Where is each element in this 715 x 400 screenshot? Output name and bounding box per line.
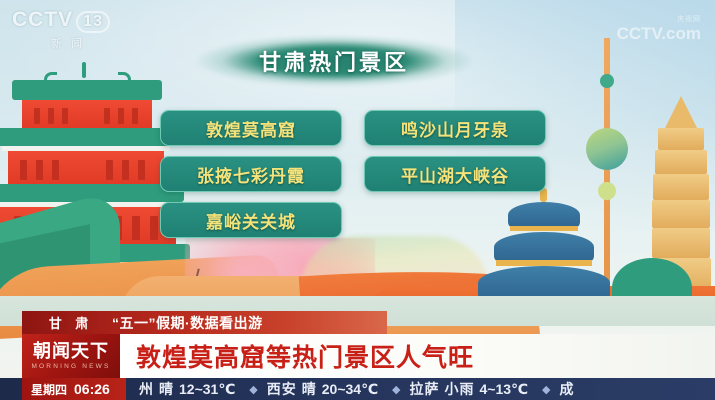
ticker-city: 成 bbox=[559, 379, 574, 399]
ticker-city: 西安 bbox=[267, 379, 297, 399]
scenic-spot-chip[interactable]: 张掖七彩丹霞 bbox=[160, 156, 342, 192]
channel-watermark: CCTV13 新闻 bbox=[12, 8, 130, 48]
channel-subtitle: 新闻 bbox=[12, 35, 130, 51]
broadcast-screen: 甘肃热门景区 敦煌莫高窟 鸣沙山月牙泉 张掖七彩丹霞 平山湖大峡谷 嘉峪关关城 … bbox=[0, 0, 715, 400]
headline-text: 敦煌莫高窟等热门景区人气旺 bbox=[120, 334, 715, 378]
region-label: 甘 肃 bbox=[36, 314, 106, 331]
weather-ticker: 星期四 06:26 州 晴 12~31℃ ◆ 西安 晴 20~34℃ ◆ 拉萨 … bbox=[0, 378, 715, 400]
ticker-condition: 晴 bbox=[159, 379, 174, 399]
scenic-spot-chip[interactable]: 鸣沙山月牙泉 bbox=[364, 110, 546, 146]
pearl-tower-main-sphere bbox=[586, 128, 628, 170]
ticker-condition: 晴 bbox=[302, 379, 317, 399]
pearl-tower-top-sphere bbox=[600, 74, 614, 88]
channel-watermark-row: CCTV13 bbox=[12, 8, 130, 33]
ticker-datetime: 星期四 06:26 bbox=[22, 378, 126, 400]
scenic-spot-list: 敦煌莫高窟 鸣沙山月牙泉 张掖七彩丹霞 平山湖大峡谷 嘉峪关关城 bbox=[160, 110, 560, 248]
site-watermark-cn: 央视网 bbox=[617, 14, 701, 24]
ticker-temperature: 20~34℃ bbox=[322, 381, 378, 398]
site-watermark: 央视网 CCTV.com bbox=[617, 14, 701, 44]
bullet-icon: ◆ bbox=[249, 383, 257, 396]
ticker-weekday: 星期四 bbox=[31, 381, 67, 398]
segment-subtitle: “五一”假期·数据看出游 bbox=[112, 313, 377, 332]
program-logo-cn: 朝闻天下 bbox=[33, 342, 109, 360]
ticker-temperature: 12~31℃ bbox=[179, 381, 235, 398]
channel-number: 13 bbox=[76, 11, 110, 33]
program-logo: 朝闻天下 MORNING NEWS bbox=[22, 334, 120, 378]
page-title: 甘肃热门景区 bbox=[196, 44, 472, 78]
ticker-city: 州 bbox=[139, 379, 154, 399]
lower-third: 甘 肃 “五一”假期·数据看出游 朝闻天下 MORNING NEWS 敦煌莫高窟… bbox=[0, 311, 715, 378]
ticker-condition: 小雨 bbox=[445, 379, 475, 399]
scenic-spot-chip[interactable]: 嘉峪关关城 bbox=[160, 202, 342, 238]
bullet-icon: ◆ bbox=[542, 383, 550, 396]
scenic-spot-row: 敦煌莫高窟 鸣沙山月牙泉 bbox=[160, 110, 560, 146]
ticker-time: 06:26 bbox=[74, 381, 110, 397]
site-watermark-en: CCTV.com bbox=[617, 24, 701, 44]
bullet-icon: ◆ bbox=[392, 383, 400, 396]
scenic-spot-row: 张掖七彩丹霞 平山湖大峡谷 bbox=[160, 156, 560, 192]
program-logo-en: MORNING NEWS bbox=[31, 363, 110, 370]
ticker-weather-item: ◆ 西安 晴 20~34℃ bbox=[249, 379, 378, 399]
ticker-weather-item: ◆ 成 bbox=[542, 379, 574, 399]
ticker-weather-item: ◆ 拉萨 小雨 4~13℃ bbox=[392, 379, 528, 399]
ticker-weather-list: 州 晴 12~31℃ ◆ 西安 晴 20~34℃ ◆ 拉萨 小雨 4~13℃ ◆… bbox=[130, 378, 715, 400]
scenic-spot-row: 嘉峪关关城 bbox=[160, 202, 560, 238]
scenic-spot-chip[interactable]: 平山湖大峡谷 bbox=[364, 156, 546, 192]
ticker-city: 拉萨 bbox=[410, 379, 440, 399]
ticker-weather-item: 州 晴 12~31℃ bbox=[130, 379, 235, 399]
cctv-logo-text: CCTV bbox=[12, 8, 73, 31]
scenic-spot-chip[interactable]: 敦煌莫高窟 bbox=[160, 110, 342, 146]
ticker-temperature: 4~13℃ bbox=[480, 381, 529, 398]
